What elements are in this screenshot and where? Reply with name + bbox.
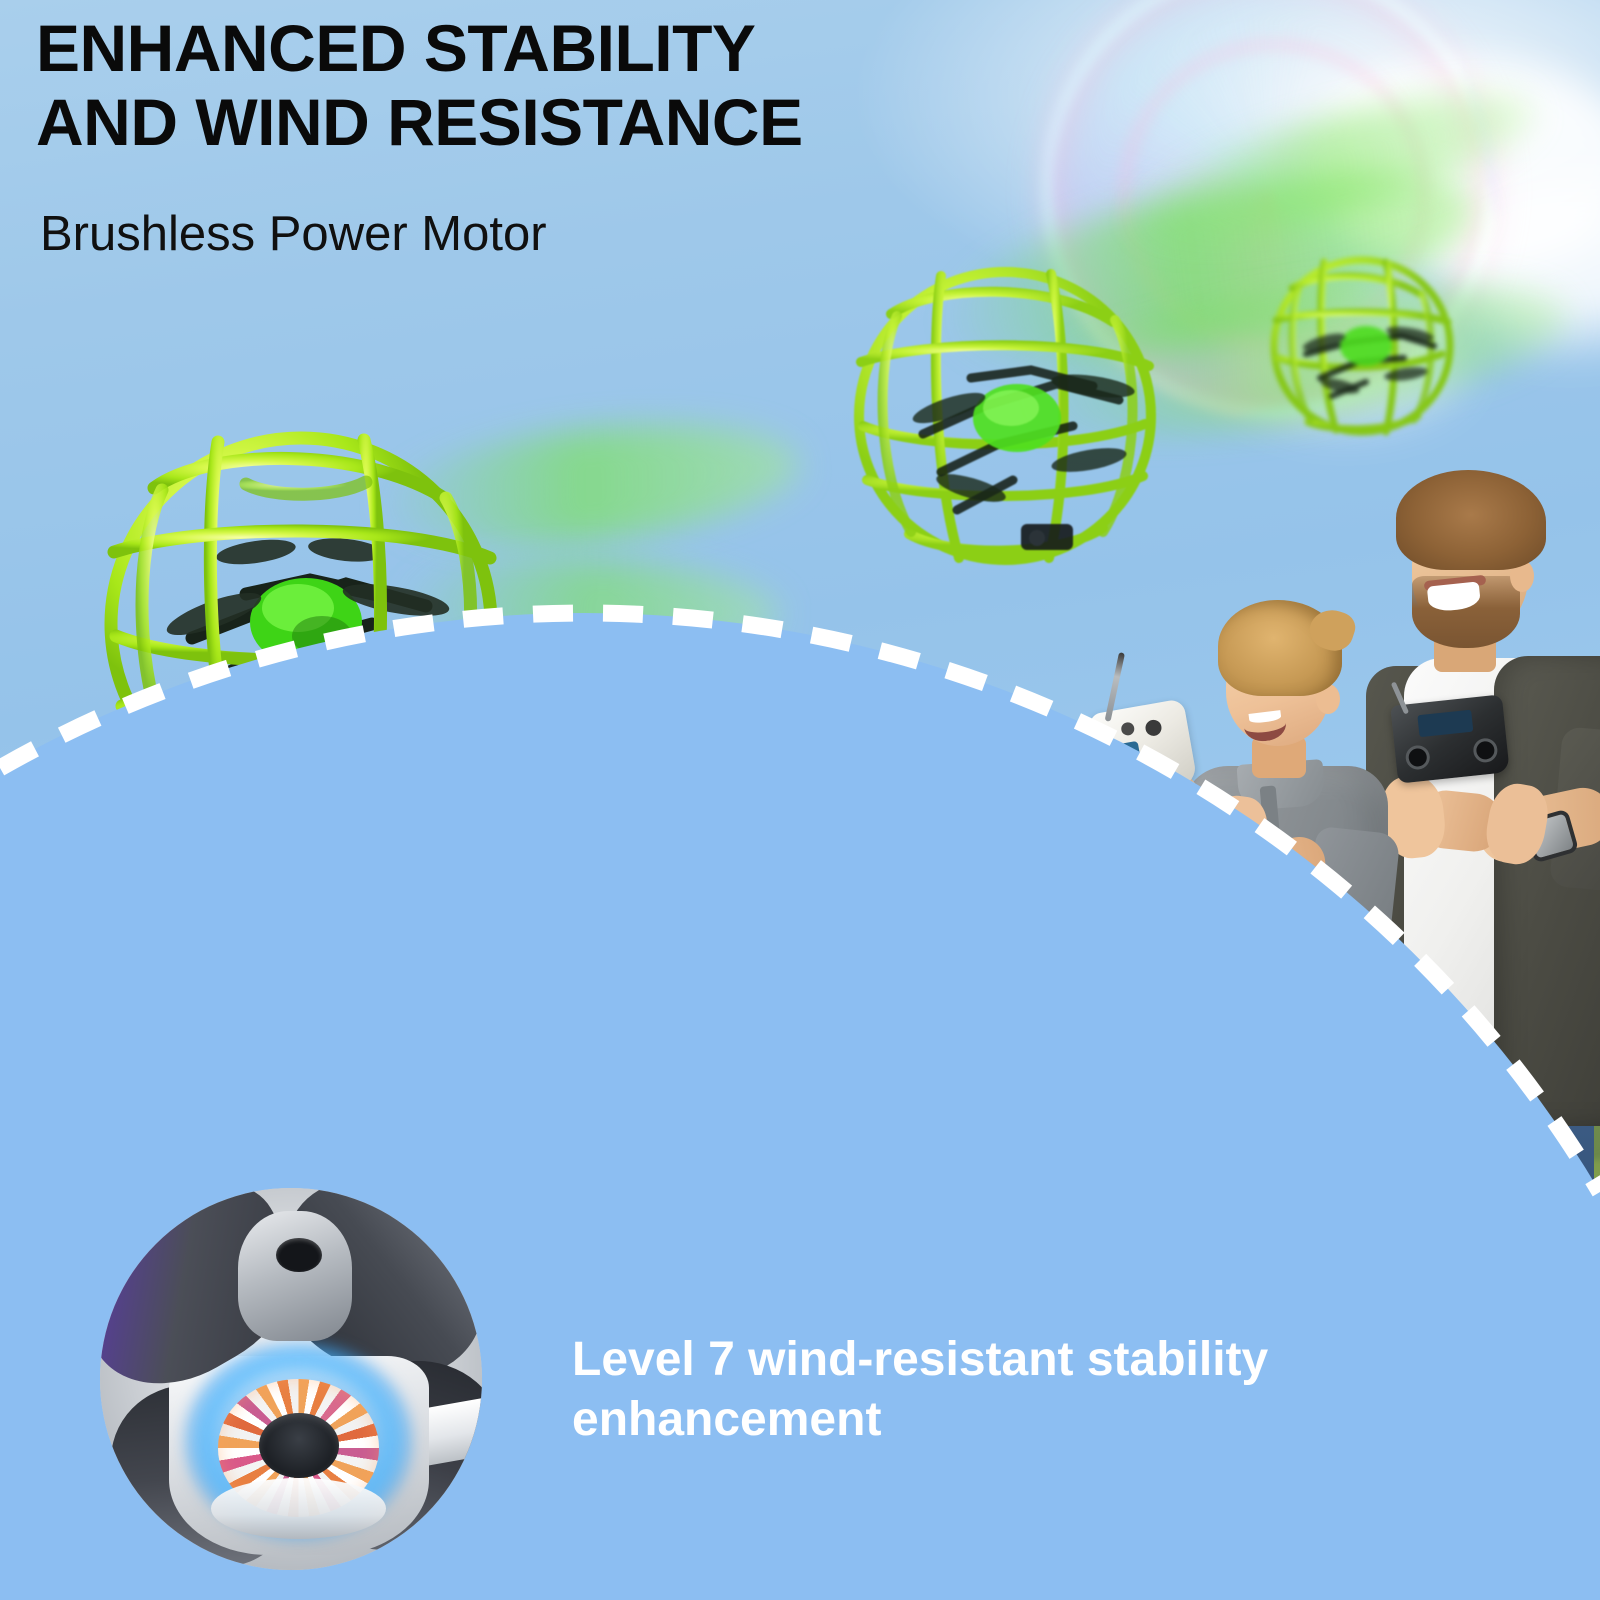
controller-stick-right bbox=[1144, 719, 1163, 738]
drone-far bbox=[1262, 250, 1462, 442]
distant-person-blob bbox=[430, 1150, 490, 1186]
bg-man-leg-split bbox=[1132, 1110, 1138, 1214]
drone-protective-cage bbox=[111, 438, 491, 810]
controller-blue-grip bbox=[1104, 741, 1145, 790]
man-hair bbox=[1396, 470, 1546, 570]
brushless-motor-closeup bbox=[100, 1188, 482, 1570]
man-olive-shirt bbox=[1494, 656, 1600, 1126]
boy-jeans-seam bbox=[1282, 1186, 1289, 1350]
drone-mid bbox=[845, 258, 1165, 574]
motor-hub bbox=[238, 1211, 353, 1341]
bg-man-controller-accent bbox=[1072, 974, 1088, 986]
drone-cage-far bbox=[1262, 250, 1462, 442]
page-title: ENHANCED STABILITY AND WIND RESISTANCE bbox=[36, 12, 1016, 160]
controller-stick-left bbox=[1120, 721, 1135, 736]
drone-foreground bbox=[96, 424, 506, 824]
distant-person-blob bbox=[690, 1154, 734, 1182]
feature-caption: Level 7 wind-resistant stability enhance… bbox=[572, 1330, 1532, 1450]
controller-stick-right bbox=[1472, 737, 1498, 763]
headline-line-2: AND WIND RESISTANCE bbox=[36, 86, 1016, 160]
man-jeans-seam bbox=[1502, 1130, 1509, 1356]
controller-screen bbox=[1417, 710, 1473, 738]
product-feature-poster: ENHANCED STABILITY AND WIND RESISTANCE B… bbox=[0, 0, 1600, 1600]
drone-cage-mid bbox=[845, 258, 1165, 574]
boy-jeans-highlight bbox=[1206, 1150, 1246, 1330]
headline-line-1: ENHANCED STABILITY bbox=[36, 12, 1016, 86]
motor-bore bbox=[259, 1413, 339, 1478]
motor-shaft-hole bbox=[276, 1238, 322, 1272]
subheadline: Brushless Power Motor bbox=[40, 208, 547, 262]
child-legs bbox=[951, 1158, 971, 1208]
white-blue-remote-controller bbox=[1088, 698, 1197, 799]
drone-cage-foreground bbox=[96, 424, 506, 824]
child-top bbox=[948, 1116, 974, 1162]
background-child bbox=[944, 1100, 978, 1210]
